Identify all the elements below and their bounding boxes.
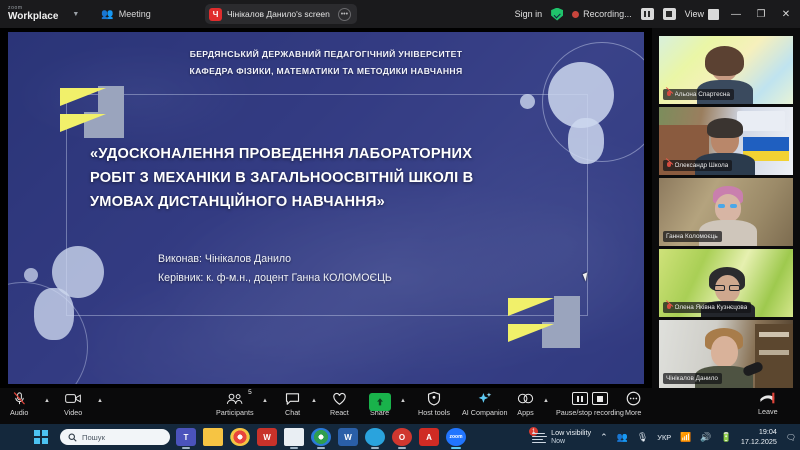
taskbar-chrome-alt-icon[interactable] [311, 428, 331, 446]
search-icon [68, 433, 77, 442]
heart-icon [332, 391, 347, 406]
shared-screen-stage[interactable]: БЕРДЯНСЬКИЙ ДЕРЖАВНИЙ ПЕДАГОГІЧНИЙ УНІВЕ… [0, 28, 652, 388]
chat-button[interactable]: Chat [285, 391, 300, 417]
participant-name-badge: Чінікалов Данило [663, 373, 722, 384]
search-input[interactable]: Пошук [60, 429, 170, 445]
windows-start-icon[interactable] [34, 430, 48, 444]
slide-title-line1: «УДОСКОНАЛЕННЯ ПРОВЕДЕННЯ ЛАБОРАТОРНИХ [90, 142, 530, 166]
minimize-button[interactable]: — [728, 9, 744, 20]
more-icon [626, 391, 641, 406]
search-placeholder: Пошук [82, 433, 105, 442]
participants-label: Participants [216, 408, 254, 417]
close-button[interactable]: ✕ [778, 9, 794, 20]
participant-name-badge: Альона Спартесна [663, 89, 734, 100]
chevron-down-icon[interactable]: ▼ [72, 11, 79, 18]
decor-chevron-icon [502, 296, 592, 348]
slide-title-line2: РОБІТ З МЕХАНІКИ В ЗАГАЛЬНООСВІТНІЙ ШКОЛ… [90, 166, 530, 190]
video-chevron-icon[interactable]: ▲ [97, 398, 103, 404]
meeting-tab[interactable]: 👥 Meeting [101, 9, 150, 20]
pause-recording-icon[interactable] [572, 392, 588, 405]
language-indicator[interactable]: УКР [657, 433, 671, 442]
show-hidden-icons-chevron[interactable]: ⌃ [600, 432, 608, 443]
weather-subtitle: Now [551, 437, 591, 446]
chat-label: Chat [285, 408, 300, 417]
taskbar-word-doc-icon[interactable]: W [338, 428, 358, 446]
camera-icon [65, 391, 82, 406]
participant-name-badge: Олена Яківна Кузнєцова [663, 302, 751, 313]
taskbar-telegram-icon[interactable] [365, 428, 385, 446]
mic-muted-icon [666, 304, 672, 312]
share-button[interactable]: Share [370, 391, 389, 417]
leave-button[interactable]: Leave [758, 391, 778, 416]
clock-time: 19:04 [741, 427, 777, 437]
zoom-meeting-window: zoom Workplace ▼ 👥 Meeting Ч Чінікалов Д… [0, 0, 800, 450]
ai-sparkle-icon [477, 391, 493, 406]
recording-label: Pause/stop recording [556, 408, 624, 417]
participants-chevron-icon[interactable]: ▲ [262, 398, 268, 404]
wifi-icon[interactable]: 📶 [680, 432, 691, 443]
taskbar-chrome-icon[interactable] [230, 428, 250, 446]
decor-dot-icon [24, 268, 38, 282]
participants-icon: 5 [226, 391, 244, 406]
clock-date: 17.12.2025 [741, 437, 777, 447]
slide-header-line1: БЕРДЯНСЬКИЙ ДЕРЖАВНИЙ ПЕДАГОГІЧНИЙ УНІВЕ… [8, 46, 644, 63]
apps-chevron-icon[interactable]: ▲ [543, 398, 549, 404]
apps-icon [517, 391, 534, 406]
share-screen-icon [369, 393, 391, 411]
notifications-icon[interactable]: 🗨 [786, 433, 796, 442]
windows-taskbar[interactable]: Пошук T W W O A zoom 1 Low visibility No… [0, 424, 800, 450]
participant-name: Олена Яківна Кузнєцова [675, 304, 748, 311]
recording-icons [572, 391, 608, 406]
audio-button[interactable]: Audio [10, 391, 28, 417]
video-tile[interactable]: Олена Яківна Кузнєцова [659, 249, 793, 317]
participants-button[interactable]: 5 Participants [216, 391, 254, 417]
avatar: Ч [209, 8, 222, 21]
meet-tray-icon[interactable]: 👥 [617, 432, 628, 443]
microphone-muted-icon [12, 391, 27, 406]
video-label: Video [64, 408, 82, 417]
taskbar-save-app-icon[interactable] [284, 428, 304, 446]
host-tools-label: Host tools [418, 408, 450, 417]
react-button[interactable]: React [330, 391, 349, 417]
slide-header-line2: КАФЕДРА ФІЗИКИ, МАТЕМАТИКИ ТА МЕТОДИКИ Н… [8, 63, 644, 80]
more-label: More [625, 408, 641, 417]
ai-companion-label: AI Companion [462, 408, 508, 417]
host-shield-icon [427, 391, 441, 406]
battery-icon[interactable]: 🔋 [721, 432, 732, 443]
decor-chevron-icon [60, 86, 150, 138]
taskbar-zoom-app-icon[interactable]: zoom [446, 428, 466, 446]
recording-controls[interactable]: Pause/stop recording [556, 391, 624, 417]
people-icon: 👥 [101, 9, 113, 20]
slide-header: БЕРДЯНСЬКИЙ ДЕРЖАВНИЙ ПЕДАГОГІЧНИЙ УНІВЕ… [8, 46, 644, 80]
participant-name: Чінікалов Данило [666, 375, 718, 382]
more-options-icon[interactable]: ••• [338, 8, 351, 21]
security-shield-icon[interactable] [551, 8, 563, 21]
zoom-brand: Workplace [8, 12, 58, 22]
zoom-logo: zoom Workplace [8, 6, 58, 22]
slide-title-line3: УМОВАХ ДИСТАНЦІЙНОГО НАВЧАННЯ» [90, 190, 530, 214]
taskbar-teams-icon[interactable]: T [176, 428, 196, 446]
participant-name-badge: Ганна Коломоєць [663, 231, 722, 242]
ai-companion-button[interactable]: AI Companion [462, 391, 508, 417]
taskbar-explorer-icon[interactable] [203, 428, 223, 446]
more-button[interactable]: More [625, 391, 641, 417]
apps-button[interactable]: Apps [517, 391, 534, 417]
presentation-slide: БЕРДЯНСЬКИЙ ДЕРЖАВНИЙ ПЕДАГОГІЧНИЙ УНІВЕ… [8, 32, 644, 384]
participant-name: Ганна Коломоєць [666, 233, 718, 240]
leave-label: Leave [758, 407, 778, 416]
react-label: React [330, 408, 349, 417]
view-label: View [685, 9, 704, 19]
weather-widget[interactable]: 1 Low visibility Now [532, 428, 591, 446]
volume-icon[interactable]: 🔊 [700, 432, 711, 443]
video-tile[interactable]: Олександр Школа [659, 107, 793, 175]
recording-status: Recording... [572, 9, 632, 19]
leave-meeting-icon [759, 391, 777, 405]
recording-dot-icon [572, 11, 579, 18]
share-source-label: Чінікалов Данило's screen [227, 9, 330, 19]
chat-chevron-icon[interactable]: ▲ [311, 398, 317, 404]
video-tile[interactable]: Альона Спартесна [659, 36, 793, 104]
slide-authors: Виконав: Чінікалов Данило Керівник: к. ф… [158, 250, 578, 288]
participant-name: Альона Спартесна [675, 91, 730, 98]
slide-supervisor: Керівник: к. ф-м.н., доцент Ганна КОЛОМО… [158, 269, 578, 288]
meeting-toolbar[interactable]: Audio ▲ Video ▲ 5 Pa [0, 388, 800, 424]
maximize-button[interactable]: ❐ [753, 9, 769, 20]
participant-name: Олександр Школа [675, 162, 729, 169]
fog-weather-icon [532, 431, 547, 444]
pause-recording-icon[interactable] [641, 8, 654, 20]
view-button[interactable]: View [685, 9, 719, 20]
host-tools-button[interactable]: Host tools [418, 391, 450, 417]
audio-chevron-icon[interactable]: ▲ [44, 398, 50, 404]
audio-label: Audio [10, 408, 28, 417]
participants-filmstrip[interactable]: Альона Спартесна Олександр Школа [652, 28, 800, 388]
taskbar-word-app-icon[interactable]: W [257, 428, 277, 446]
stop-recording-icon[interactable] [663, 8, 676, 20]
screen-share-indicator[interactable]: Ч Чінікалов Данило's screen ••• [205, 4, 357, 24]
meeting-tab-label: Meeting [119, 9, 151, 19]
microphone-tray-icon[interactable]: 🎙 [637, 432, 648, 443]
video-tile-active-speaker[interactable]: Чінікалов Данило [659, 320, 793, 388]
titlebar: zoom Workplace ▼ 👥 Meeting Ч Чінікалов Д… [0, 0, 800, 28]
taskbar-pdf-icon[interactable]: A [419, 428, 439, 446]
layout-view-icon [708, 9, 719, 20]
stop-recording-icon[interactable] [592, 392, 608, 405]
chat-icon [285, 391, 300, 406]
mic-muted-icon [666, 91, 672, 99]
titlebar-right: Sign in Recording... View — ❐ ✕ [515, 0, 800, 28]
weather-title: Low visibility [551, 428, 591, 437]
share-chevron-icon[interactable]: ▲ [400, 398, 406, 404]
system-tray[interactable]: 1 Low visibility Now ⌃ 👥 🎙 УКР 📶 🔊 🔋 19:… [532, 424, 796, 450]
taskbar-opera-icon[interactable]: O [392, 428, 412, 446]
apps-label: Apps [517, 408, 533, 417]
sign-in-button[interactable]: Sign in [515, 9, 543, 19]
participants-count-badge: 5 [248, 389, 252, 396]
recording-label: Recording... [583, 9, 632, 19]
participant-name-badge: Олександр Школа [663, 160, 732, 171]
video-button[interactable]: Video [64, 391, 82, 417]
slide-title: «УДОСКОНАЛЕННЯ ПРОВЕДЕННЯ ЛАБОРАТОРНИХ Р… [90, 142, 530, 214]
clock[interactable]: 19:04 17.12.2025 [741, 427, 777, 447]
mic-muted-icon [666, 162, 672, 170]
slide-author: Виконав: Чінікалов Данило [158, 250, 578, 269]
video-tile[interactable]: Ганна Коломоєць [659, 178, 793, 246]
